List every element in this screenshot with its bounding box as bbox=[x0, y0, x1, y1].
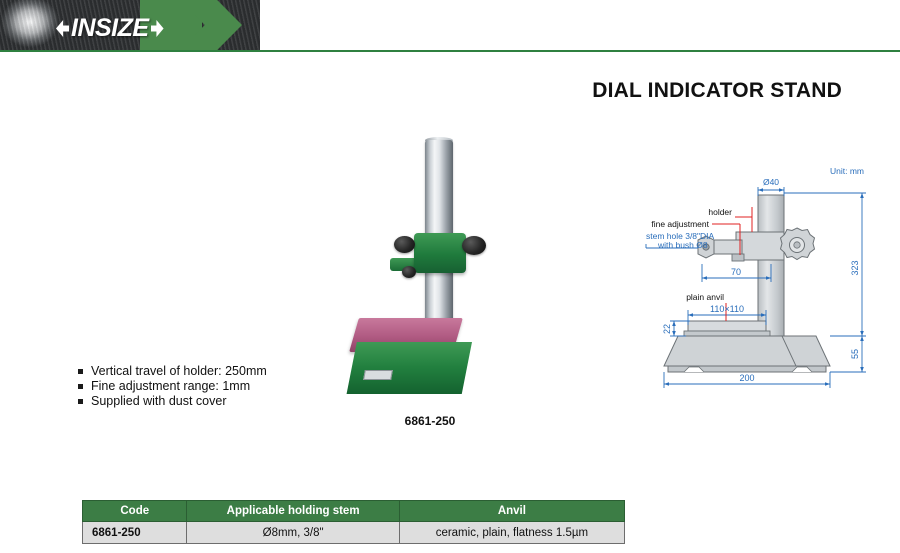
product-photo bbox=[330, 128, 530, 428]
specification-table: Code Applicable holding stem Anvil 6861-… bbox=[82, 500, 625, 544]
cell-code: 6861-250 bbox=[83, 522, 187, 544]
drawing-diameter-label: Ø40 bbox=[763, 177, 779, 187]
drawing-dim-column-height: 323 bbox=[850, 260, 860, 275]
knob-icon-left bbox=[394, 236, 415, 253]
table-header-stem: Applicable holding stem bbox=[187, 501, 399, 522]
base-nameplate bbox=[363, 370, 393, 380]
product-caption: 6861-250 bbox=[330, 414, 530, 428]
knob-icon-small bbox=[402, 266, 416, 278]
table-header-anvil: Anvil bbox=[399, 501, 624, 522]
drawing-stem-hole-label-line2: with bush Ø8 bbox=[657, 240, 708, 250]
table-header-code: Code bbox=[83, 501, 187, 522]
list-item: Fine adjustment range: 1mm bbox=[78, 379, 267, 394]
drawing-dim-anvil-size: 110×110 bbox=[710, 304, 744, 314]
right-arrow-icon bbox=[151, 20, 164, 37]
drawing-dim-arm-reach: 70 bbox=[731, 267, 741, 277]
table-row: 6861-250 Ø8mm, 3/8" ceramic, plain, flat… bbox=[83, 522, 625, 544]
drawing-dim-base-height: 55 bbox=[850, 349, 860, 359]
drawing-fine-adjustment-label: fine adjustment bbox=[651, 219, 709, 229]
left-arrow-icon bbox=[56, 20, 69, 37]
page-title: DIAL INDICATOR STAND bbox=[592, 79, 842, 103]
drawing-holder-label: holder bbox=[708, 207, 732, 217]
drawing-plain-anvil-label: plain anvil bbox=[686, 292, 724, 302]
knob-icon-right bbox=[462, 236, 486, 255]
list-item: Vertical travel of holder: 250mm bbox=[78, 364, 267, 379]
cell-stem: Ø8mm, 3/8" bbox=[187, 522, 399, 544]
logo-text: INSIZE bbox=[71, 14, 149, 43]
holder-carriage bbox=[414, 233, 466, 273]
page-header: INSIZE bbox=[0, 0, 900, 50]
header-divider-rule bbox=[0, 50, 900, 52]
insize-logo: INSIZE bbox=[56, 14, 164, 43]
feature-list: Vertical travel of holder: 250mm Fine ad… bbox=[78, 364, 267, 409]
drawing-dim-anvil-thickness: 22 bbox=[662, 324, 672, 334]
technical-drawing: Unit: mm Ø40 holder fine adjustment stem… bbox=[640, 160, 896, 400]
cell-anvil: ceramic, plain, flatness 1.5µm bbox=[399, 522, 624, 544]
table-header-row: Code Applicable holding stem Anvil bbox=[83, 501, 625, 522]
drawing-dim-base-width: 200 bbox=[739, 373, 754, 383]
drawing-unit-note: Unit: mm bbox=[830, 166, 864, 176]
list-item: Supplied with dust cover bbox=[78, 394, 267, 409]
product-base bbox=[344, 342, 472, 394]
